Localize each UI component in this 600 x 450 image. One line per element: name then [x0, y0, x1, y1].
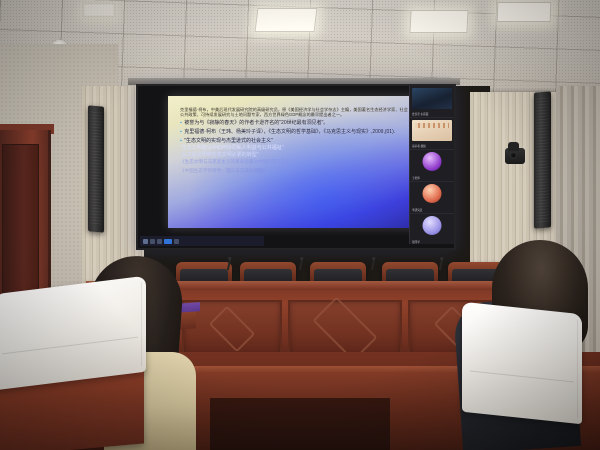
- slide-quote: 《生态文明与马克思主义的革命旨趣对中国的若干启示》: [180, 159, 412, 165]
- slide-bullet: ▪ "生态文明的实现与杰里逊式的社会主义": [180, 138, 412, 144]
- slide-bullet: ▪ 被誉为与《寂静的春天》的作者卡逊齐名的"20世纪最有洞见者"。: [180, 120, 412, 126]
- presentation-slide: 克里福德·柯布，中美后现代发展研究院的高级研究员，原《美国经济学与社会学杂志》主…: [168, 96, 420, 228]
- participant-tile[interactable]: 演示者 视频: [410, 118, 454, 150]
- slide-bullet-text: "生态文明的实现与杰里逊式的社会主义": [184, 138, 273, 144]
- participant-tile[interactable]: 王老师: [410, 150, 454, 182]
- bullet-dot-icon: ▪: [180, 120, 182, 126]
- browser-icon[interactable]: [150, 239, 155, 244]
- column-speaker: [534, 91, 551, 228]
- slide-paragraph: 克里福德·柯布，中美后现代发展研究院的高级研究员，原《美国经济学与社会学杂志》主…: [180, 107, 412, 117]
- participant-name: 张同学: [412, 240, 420, 244]
- participant-name: 会议室 主画面: [412, 112, 428, 116]
- meeting-icon[interactable]: [164, 239, 172, 244]
- desk-diamond-panel: [288, 300, 402, 358]
- avatar: [423, 184, 442, 203]
- app-icon[interactable]: [143, 239, 148, 244]
- participant-name: 王老师: [412, 176, 420, 180]
- ptz-conference-camera-icon: [505, 148, 525, 164]
- participant-tile[interactable]: 张同学: [410, 214, 454, 244]
- ceiling-panel-light: [255, 8, 318, 32]
- ceiling-panel-light: [497, 2, 552, 22]
- slide-quote: "从工业文明到生态文明必要的转型": [180, 152, 412, 158]
- folder-icon[interactable]: [157, 239, 162, 244]
- ceiling-panel-light: [83, 3, 115, 17]
- participant-name: 演示者 视频: [412, 144, 426, 148]
- ceiling-panel-light: [409, 10, 468, 33]
- slide-quote: "生态文明建设中如何协同私人利益与公共福祉": [180, 145, 412, 151]
- led-display-wall: 克里福德·柯布，中美后现代发展研究院的高级研究员，原《美国经济学与社会学杂志》主…: [136, 84, 456, 250]
- slide-quote: 《中国生态学的特色：理论与方法论问题》: [180, 168, 412, 174]
- bullet-dot-icon: ▪: [180, 138, 182, 144]
- white-chair-cover: [462, 302, 582, 425]
- avatar: [423, 216, 442, 235]
- participant-strip[interactable]: 会议室 主画面 演示者 视频 王老师 李研究员 张同学 陈博士: [409, 86, 454, 244]
- avatar: [423, 152, 442, 171]
- app-icon[interactable]: [174, 239, 179, 244]
- column-speaker: [88, 105, 104, 232]
- floor: [210, 398, 390, 450]
- white-chair-cover: [0, 276, 146, 391]
- desktop-taskbar[interactable]: [140, 236, 264, 246]
- participant-name: 李研究员: [412, 208, 422, 212]
- participant-video: [412, 88, 452, 109]
- screenshot-root: 克里福德·柯布，中美后现代发展研究院的高级研究员，原《美国经济学与社会学杂志》主…: [0, 0, 600, 450]
- bullet-dot-icon: ▪: [180, 129, 182, 135]
- slide-bullet-text: 被誉为与《寂静的春天》的作者卡逊齐名的"20世纪最有洞见者"。: [184, 120, 328, 126]
- slide-bullet-text: 克里福德·柯布（王玮、杨美玲子译），《生态文明的哲学基础》，《马克思主义与现实》…: [184, 129, 395, 135]
- slide-bullet: ▪ 克里福德·柯布（王玮、杨美玲子译），《生态文明的哲学基础》，《马克思主义与现…: [180, 129, 412, 135]
- participant-tile[interactable]: 会议室 主画面: [410, 86, 454, 118]
- participant-video: [412, 120, 452, 141]
- participant-tile[interactable]: 李研究员: [410, 182, 454, 214]
